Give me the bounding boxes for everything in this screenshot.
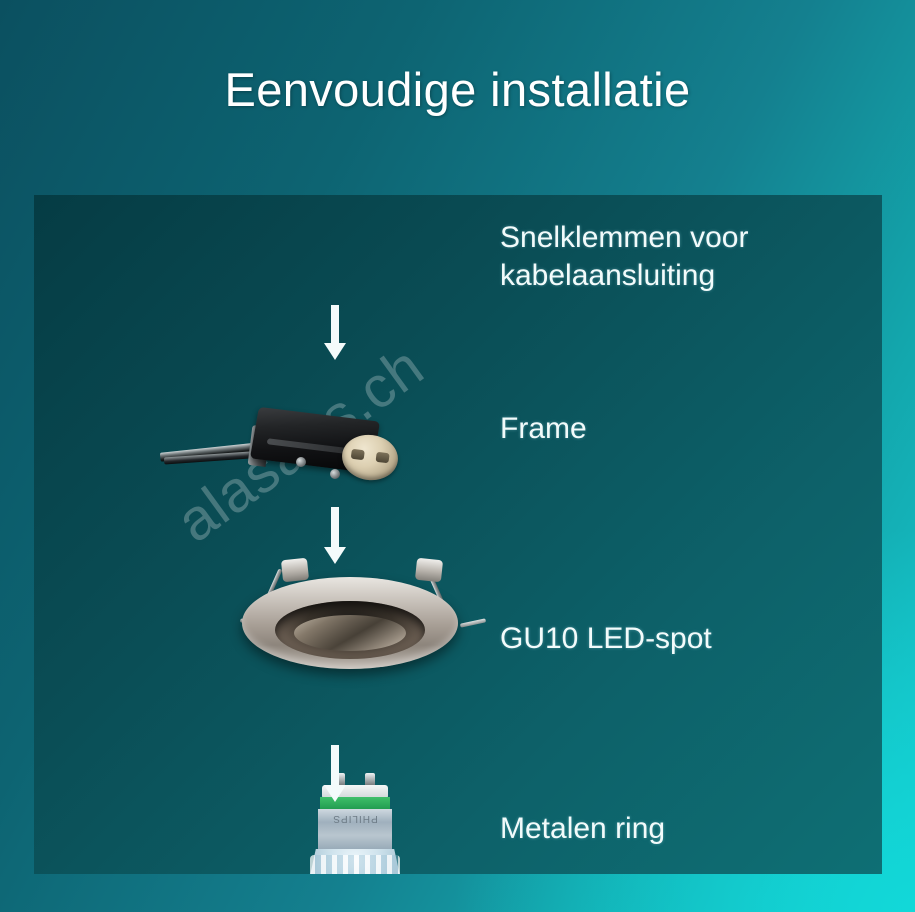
step-label-3: GU10 LED-spot (500, 620, 712, 658)
frame-reflector (294, 615, 406, 651)
step-label-1: Snelklemmen voor kabelaansluiting (500, 219, 748, 295)
quick-connector-terminal-block-image (154, 407, 414, 499)
bulb-lens-facets (310, 855, 400, 874)
installation-diagram-panel: alasans.ch Snelklemmen voor kabelaanslui… (34, 195, 882, 874)
arrow-down-2 (320, 507, 350, 565)
slide-root: Eenvoudige installatie alasans.ch Snelkl… (0, 0, 915, 912)
arrow-down-1 (320, 305, 350, 361)
connector-screw (330, 469, 340, 479)
frame-clip-tab-right (415, 558, 443, 583)
frame-clip-tab-left (281, 558, 309, 583)
recessed-downlight-frame-image (220, 553, 510, 693)
bulb-brand-text: PHILIPS (318, 813, 392, 824)
gu10-led-spot-bulb-image: PHILIPS (292, 773, 422, 874)
connector-screw (296, 457, 306, 467)
frame-clip-foot-right (460, 618, 486, 627)
step-label-2: Frame (500, 410, 587, 448)
arrow-down-3 (320, 745, 350, 803)
page-title: Eenvoudige installatie (0, 62, 915, 117)
step-label-4: Metalen ring (500, 810, 665, 848)
